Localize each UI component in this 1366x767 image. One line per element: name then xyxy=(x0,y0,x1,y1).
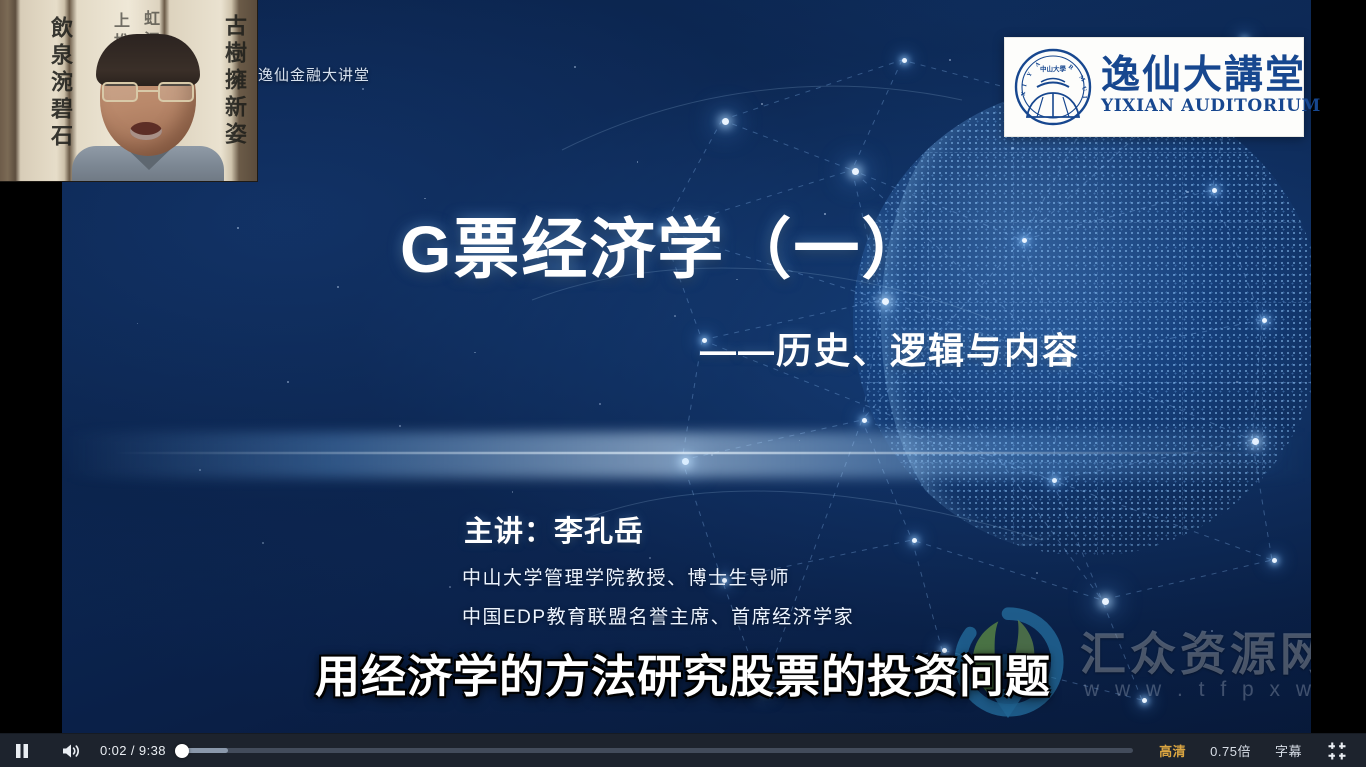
speaker-affiliation-1: 中山大学管理学院教授、博士生导师 xyxy=(462,563,790,590)
speaker-affiliation-2: 中国EDP教育联盟名誉主席、首席经济学家 xyxy=(462,602,854,629)
svg-text:Y: Y xyxy=(1026,71,1034,78)
video-caption: 用经济学的方法研究股票的投资问题 xyxy=(0,640,1366,705)
progress-bar[interactable] xyxy=(178,734,1133,767)
playback-speed-button[interactable]: 0.75倍 xyxy=(1198,734,1263,767)
svg-text:I: I xyxy=(1022,83,1029,87)
brand-logo: 中山大學 YIXIAN AUDITORIUM Y I X M U I A R xyxy=(1004,37,1304,137)
volume-button[interactable] xyxy=(52,734,92,767)
player-controls-bar: 0:02 / 9:38 高清 0.75倍 字幕 xyxy=(0,733,1366,767)
video-player: G票经济学（一） ——历史、逻辑与内容 主讲：李孔岳 中山大学管理学院教授、博士… xyxy=(0,0,1366,767)
svg-text:M: M xyxy=(1077,75,1085,83)
quality-button[interactable]: 高清 xyxy=(1147,734,1198,767)
calligraphy-scroll-1: 飲泉涴碧石 xyxy=(44,16,76,151)
svg-text:中山大學: 中山大學 xyxy=(1040,64,1067,73)
speaker-name: 主讲：李孔岳 xyxy=(464,508,644,550)
exit-fullscreen-icon xyxy=(1328,742,1346,760)
presenter-figure xyxy=(74,34,222,182)
pause-button[interactable] xyxy=(0,734,44,767)
svg-text:R: R xyxy=(1067,64,1075,72)
progress-knob[interactable] xyxy=(175,744,189,758)
svg-text:YIXIAN AUDITORIUM: YIXIAN AUDITORIUM xyxy=(1013,47,1016,49)
brand-logo-name-en: YIXIAN AUDITORIUM xyxy=(1101,96,1321,117)
university-seal-icon: 中山大學 YIXIAN AUDITORIUM Y I X M U I A R xyxy=(1013,47,1093,127)
slide-title: G票经济学（一） xyxy=(400,196,1040,292)
pause-icon xyxy=(15,743,29,759)
video-stage[interactable]: G票经济学（一） ——历史、逻辑与内容 主讲：李孔岳 中山大学管理学院教授、博士… xyxy=(0,0,1366,733)
globe-graphic xyxy=(853,86,1311,556)
exit-fullscreen-button[interactable] xyxy=(1314,734,1360,767)
slide-subtitle: ——历史、逻辑与内容 xyxy=(400,322,1080,374)
channel-watermark: 逸仙金融大讲堂 xyxy=(258,64,370,85)
time-display: 0:02 / 9:38 xyxy=(100,743,166,758)
subtitle-button[interactable]: 字幕 xyxy=(1263,734,1314,767)
progress-track[interactable] xyxy=(178,748,1133,753)
calligraphy-scroll-4: 古樹擁新姿 xyxy=(218,14,250,149)
glasses-icon xyxy=(102,82,194,102)
presenter-camera-pip[interactable]: 飲泉涴碧石 上推挽金 虹江 古樹擁新姿 xyxy=(0,0,258,182)
volume-icon xyxy=(62,743,82,759)
svg-text:U: U xyxy=(1080,86,1087,92)
brand-logo-name-cn: 逸仙大講堂 xyxy=(1101,56,1321,96)
